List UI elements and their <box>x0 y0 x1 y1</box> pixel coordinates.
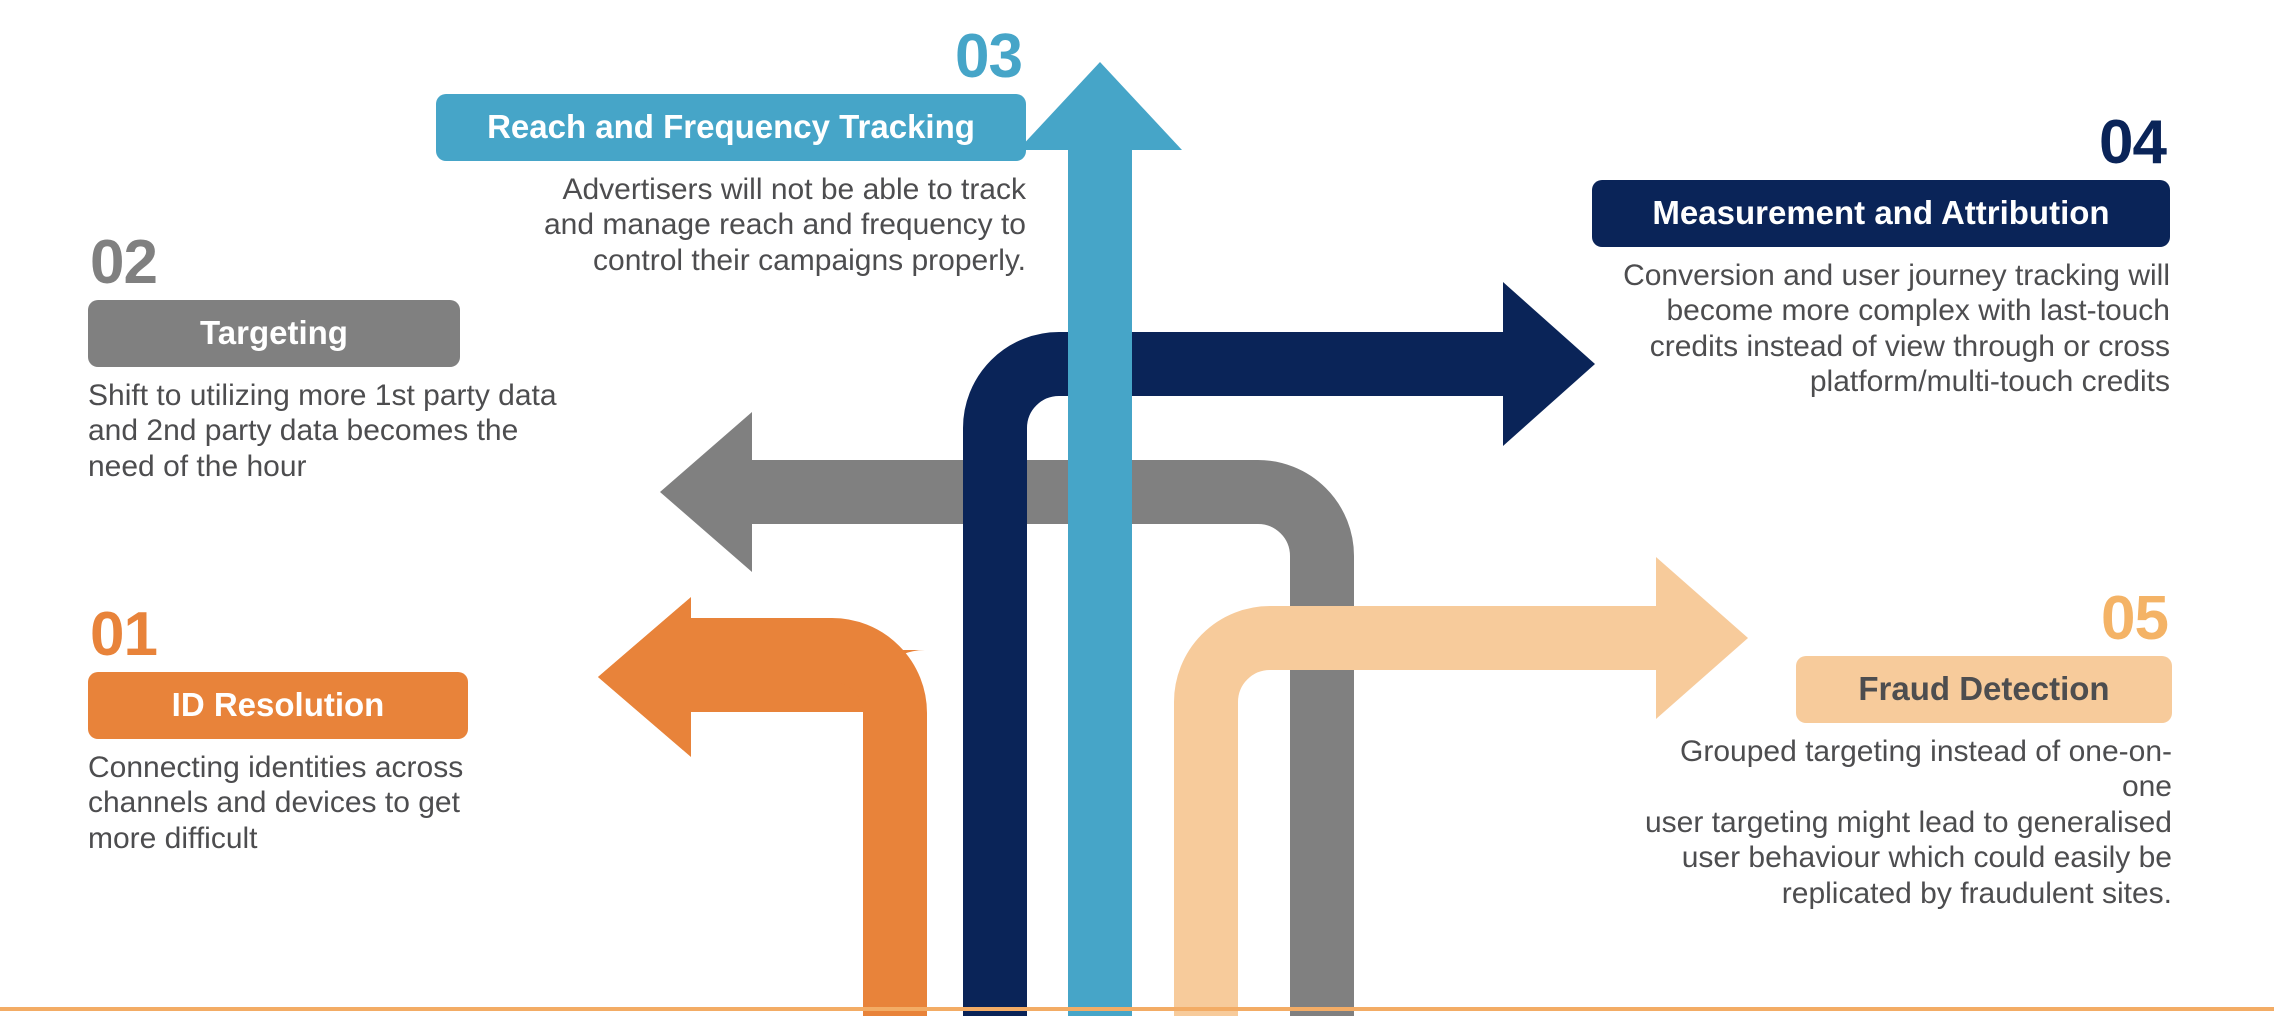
item-03-description: Advertisers will not be able to track an… <box>436 172 1026 278</box>
item-04-measurement-and-attribution: 04 Measurement and Attribution Conversio… <box>1592 112 2170 400</box>
item-04-number: 04 <box>1592 112 2166 174</box>
item-04-title: Measurement and Attribution <box>1592 180 2170 247</box>
item-01-title: ID Resolution <box>88 672 468 739</box>
item-05-title: Fraud Detection <box>1796 656 2172 723</box>
blue-up-arrow-stem <box>1068 148 1132 1016</box>
orange-arrowhead <box>598 597 691 757</box>
item-04-description: Conversion and user journey tracking wil… <box>1592 258 2170 400</box>
peach-elbow <box>1206 638 1660 1016</box>
item-05-fraud-detection: 05 Fraud Detection Grouped targeting ins… <box>1636 588 2172 911</box>
item-02-description: Shift to utilizing more 1st party data a… <box>88 378 558 484</box>
item-01-number: 01 <box>90 604 518 666</box>
navy-arrowhead <box>1503 282 1595 446</box>
item-05-description: Grouped targeting instead of one-on-one … <box>1636 734 2172 911</box>
item-03-title: Reach and Frequency Tracking <box>436 94 1026 161</box>
item-01-id-resolution: 01 ID Resolution Connecting identities a… <box>88 604 518 856</box>
item-02-title: Targeting <box>88 300 460 367</box>
item-03-reach-and-frequency-tracking: 03 Reach and Frequency Tracking Advertis… <box>436 26 1026 278</box>
blue-arrowhead <box>1018 62 1182 150</box>
gray-arrowhead <box>660 412 752 572</box>
item-03-number: 03 <box>436 26 1022 88</box>
item-01-description: Connecting identities across channels an… <box>88 750 518 856</box>
item-05-number: 05 <box>1636 588 2168 650</box>
infographic-canvas: 01 ID Resolution Connecting identities a… <box>0 0 2274 1016</box>
bottom-accent-rule <box>0 1007 2274 1011</box>
